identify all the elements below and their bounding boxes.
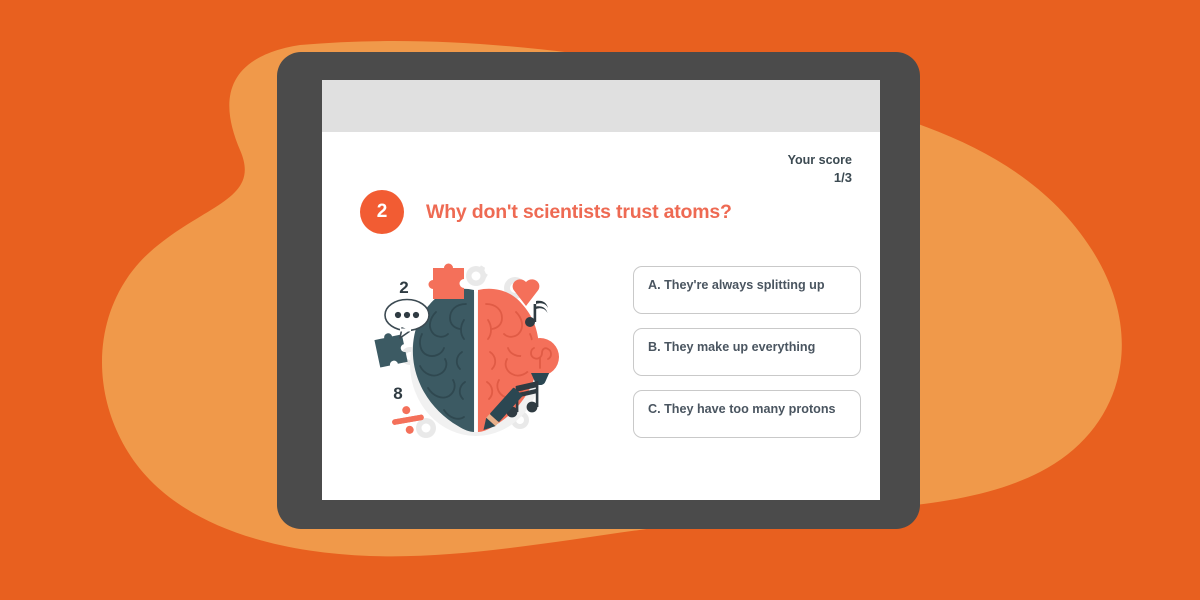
coral-puzzle-piece-icon — [429, 264, 465, 300]
question-title: Why don't scientists trust atoms? — [426, 201, 732, 224]
decor-number-two: 2 — [399, 278, 408, 297]
answer-options-list: A. They're always splitting up B. They m… — [633, 266, 861, 438]
poster-canvas: Your score 1/3 2 Why don't scientists tr… — [0, 0, 1200, 600]
app-header-bar — [322, 80, 880, 132]
answer-option-b[interactable]: B. They make up everything — [633, 328, 861, 376]
tablet-device-frame: Your score 1/3 2 Why don't scientists tr… — [277, 52, 920, 529]
question-number-badge: 2 — [360, 190, 404, 234]
score-block: Your score 1/3 — [788, 152, 852, 186]
question-row: 2 Why don't scientists trust atoms? — [360, 190, 732, 234]
split-brain-illustration: 2 8 — [370, 260, 582, 450]
answer-option-c[interactable]: C. They have too many protons — [633, 390, 861, 438]
answer-option-a[interactable]: A. They're always splitting up — [633, 266, 861, 314]
score-label: Your score — [788, 152, 852, 169]
tablet-screen: Your score 1/3 2 Why don't scientists tr… — [322, 80, 880, 500]
score-value: 1/3 — [788, 169, 852, 187]
quiz-content-area: Your score 1/3 2 Why don't scientists tr… — [322, 132, 880, 500]
decor-number-eight: 8 — [393, 384, 402, 403]
